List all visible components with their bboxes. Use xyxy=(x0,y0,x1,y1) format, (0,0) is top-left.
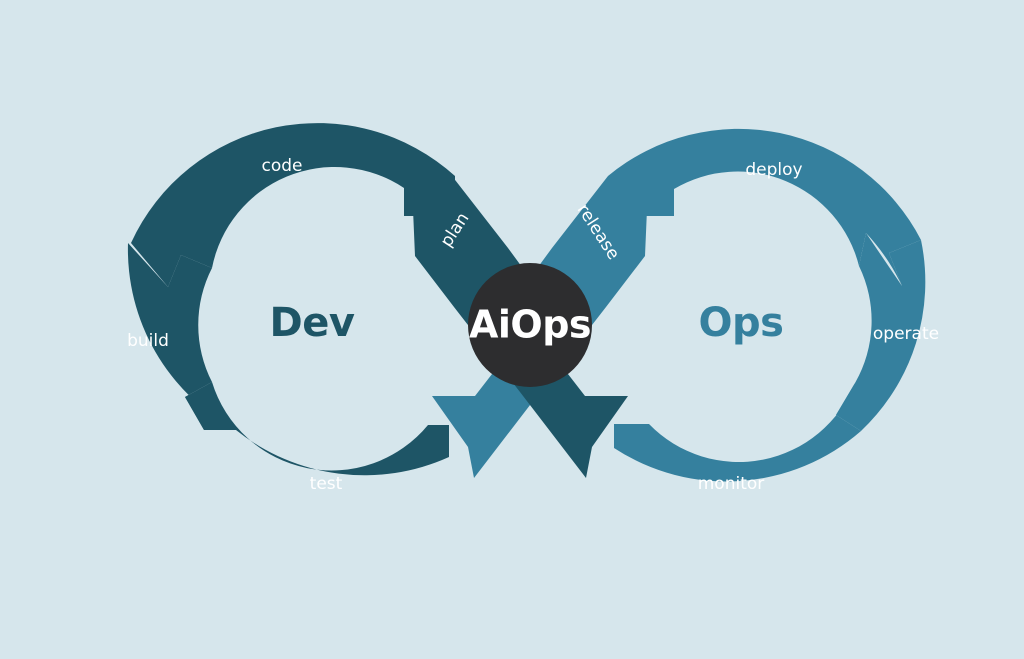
ops-hub-label: Ops xyxy=(699,300,784,346)
operate-label: operate xyxy=(873,324,939,344)
diagram-canvas: release plan code build test De xyxy=(0,0,1024,659)
devops-loop-diagram: release plan code build test De xyxy=(0,0,1024,659)
code-label: code xyxy=(262,156,303,176)
dev-hub-label: Dev xyxy=(270,300,355,346)
aiops-hub[interactable]: AiOps xyxy=(468,263,592,387)
aiops-label: AiOps xyxy=(469,303,591,347)
deploy-label: deploy xyxy=(745,160,802,180)
build-label: build xyxy=(127,331,169,351)
test-label: test xyxy=(310,474,343,494)
monitor-label: monitor xyxy=(698,474,765,494)
